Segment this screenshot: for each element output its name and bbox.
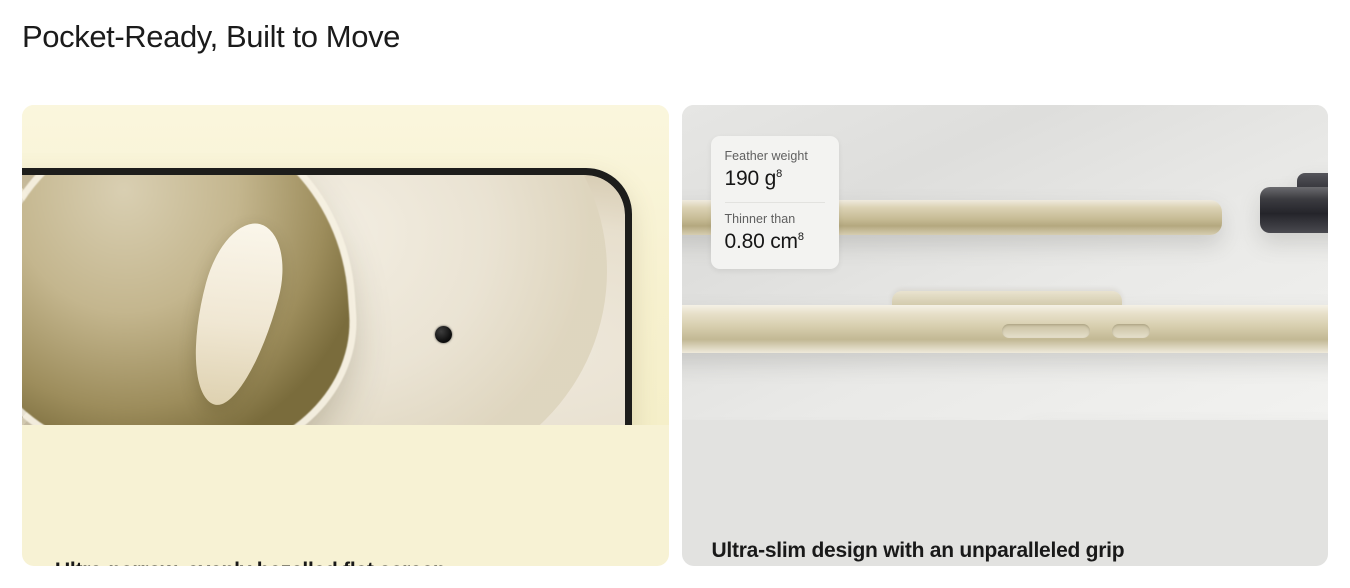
phone-front-artwork <box>22 105 669 425</box>
front-camera-punch-hole-icon <box>435 326 452 343</box>
phone-volume-button <box>1002 324 1090 338</box>
phone-front-body <box>22 168 632 425</box>
spec-value-text: 0.80 cm <box>725 230 798 253</box>
card-title: Ultra-slim design with an unparalleled g… <box>712 537 1299 565</box>
spec-footnote-marker: 8 <box>776 168 782 180</box>
spec-value-text: 190 g <box>725 167 777 190</box>
phone-power-button <box>1112 324 1150 338</box>
feature-card-ultra-slim[interactable]: Feather weight 190 g8 Thinner than 0.80 … <box>682 105 1329 566</box>
card-caption-ultra-slim: Ultra-slim design with an unparalleled g… <box>682 537 1329 566</box>
phone-front-image <box>22 105 669 425</box>
card-title: Ultra-narrow, evenly bezelled flat scree… <box>55 557 636 566</box>
spec-divider <box>725 202 825 203</box>
phone-bezel <box>22 168 632 425</box>
spec-item-thickness: Thinner than 0.80 cm8 <box>725 211 825 256</box>
spec-footnote-marker: 8 <box>798 231 804 243</box>
feature-card-grid: Ultra-narrow, evenly bezelled flat scree… <box>22 105 1328 566</box>
phone-edge-dark-top <box>1260 187 1329 233</box>
wallpaper-main-blob <box>22 175 358 425</box>
spec-value: 190 g8 <box>725 165 825 193</box>
card-caption-flat-screen: Ultra-narrow, evenly bezelled flat scree… <box>22 557 669 566</box>
phone-screen-wallpaper <box>22 175 625 425</box>
spec-label: Feather weight <box>725 148 825 165</box>
page-title: Pocket-Ready, Built to Move <box>22 17 400 57</box>
page-root: Pocket-Ready, Built to Move <box>0 0 1350 588</box>
spec-item-weight: Feather weight 190 g8 <box>725 148 825 193</box>
phone-edges-image: Feather weight 190 g8 Thinner than 0.80 … <box>682 105 1329 420</box>
spec-label: Thinner than <box>725 211 825 228</box>
spec-value: 0.80 cm8 <box>725 228 825 256</box>
feature-card-flat-screen[interactable]: Ultra-narrow, evenly bezelled flat scree… <box>22 105 669 566</box>
spec-badge: Feather weight 190 g8 Thinner than 0.80 … <box>711 136 839 269</box>
